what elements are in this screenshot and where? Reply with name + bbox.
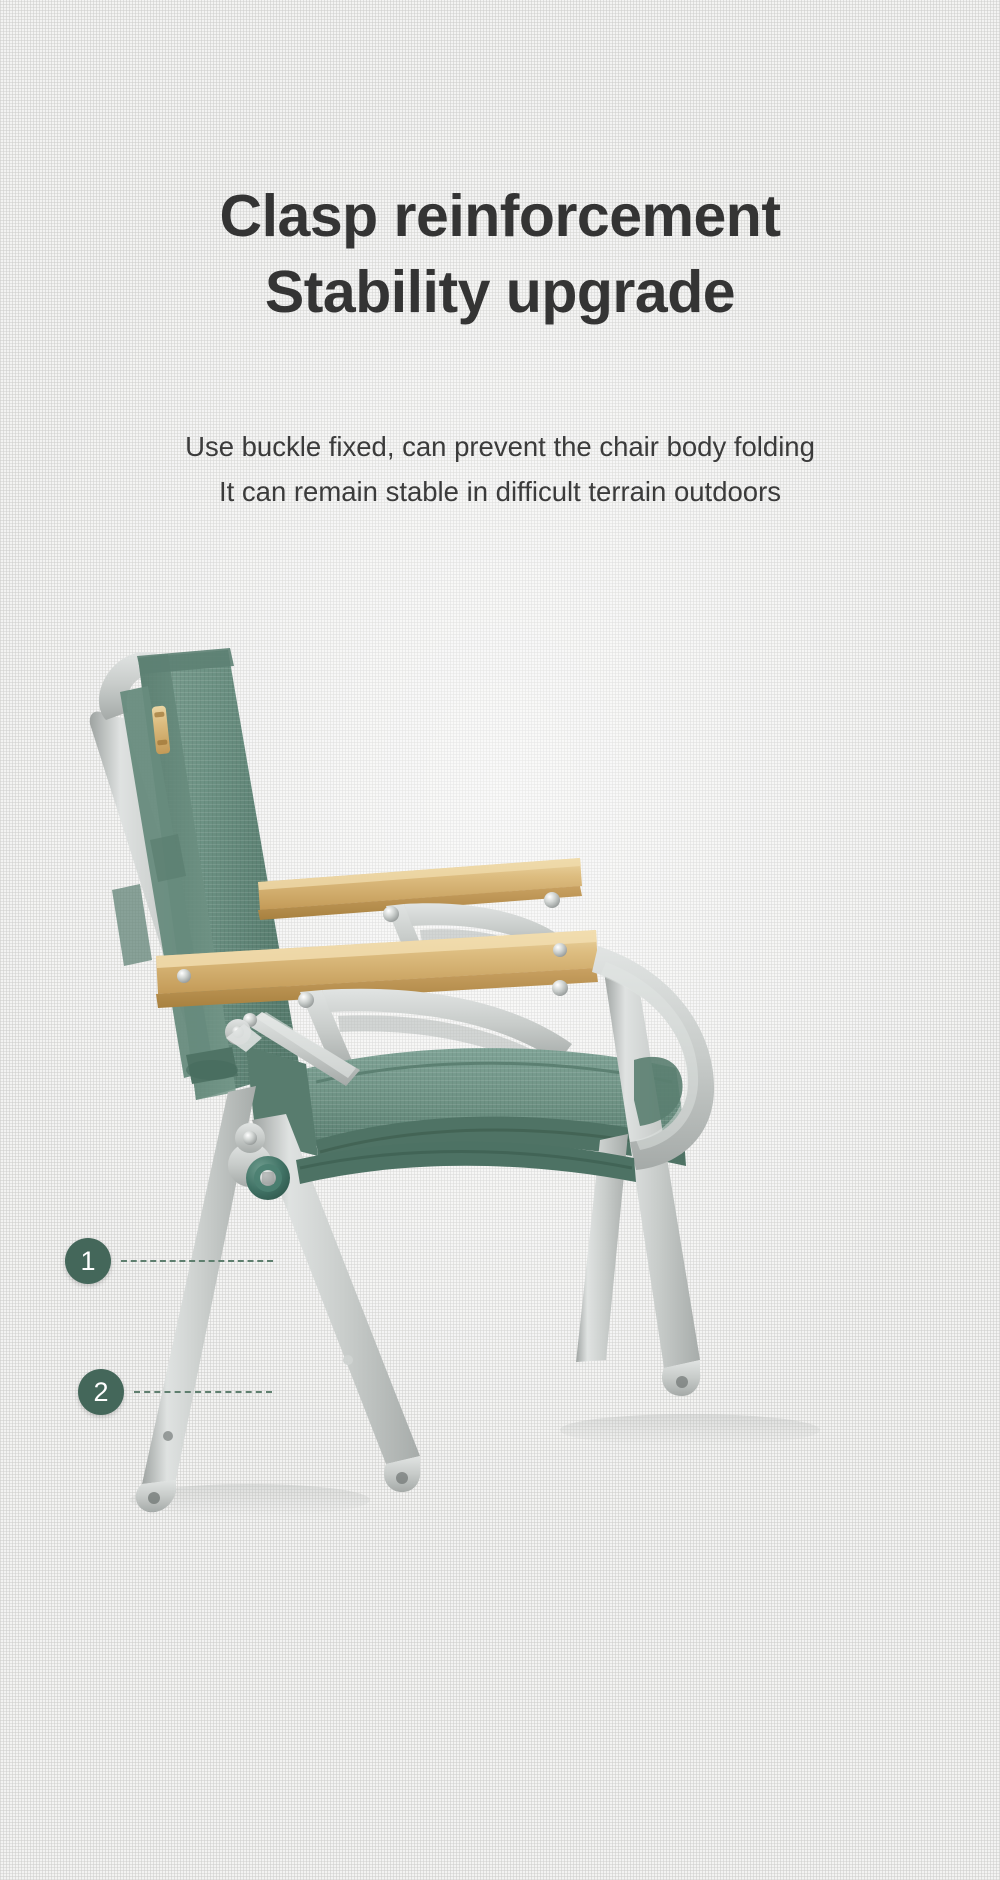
subtitle-line-2: It can remain stable in difficult terrai… [0, 469, 1000, 514]
rivet [383, 906, 399, 922]
leg-rivet [343, 1355, 353, 1365]
callout-marker-1[interactable]: 1 [65, 1238, 273, 1284]
leg-rivet [163, 1431, 173, 1441]
foot-rivet [396, 1472, 408, 1484]
callout-badge-1: 1 [65, 1238, 111, 1284]
shadow-right [560, 1414, 820, 1446]
foot-rivet [148, 1492, 160, 1504]
headline-line-2: Stability upgrade [0, 254, 1000, 330]
foot-rivet [676, 1376, 688, 1388]
callout-leader-line-1 [121, 1260, 273, 1262]
callout-badge-2: 2 [78, 1369, 124, 1415]
subtitle-line-1: Use buckle fixed, can prevent the chair … [0, 424, 1000, 469]
rivet [177, 969, 191, 983]
rivet [298, 992, 314, 1008]
rivet [553, 943, 567, 957]
headline-block: Clasp reinforcement Stability upgrade [0, 178, 1000, 330]
subtitle-block: Use buckle fixed, can prevent the chair … [0, 424, 1000, 514]
headline-line-1: Clasp reinforcement [0, 178, 1000, 254]
callout-leader-line-2 [134, 1391, 272, 1393]
rivet [552, 980, 568, 996]
rivet [544, 892, 560, 908]
callout-marker-2[interactable]: 2 [78, 1369, 272, 1415]
